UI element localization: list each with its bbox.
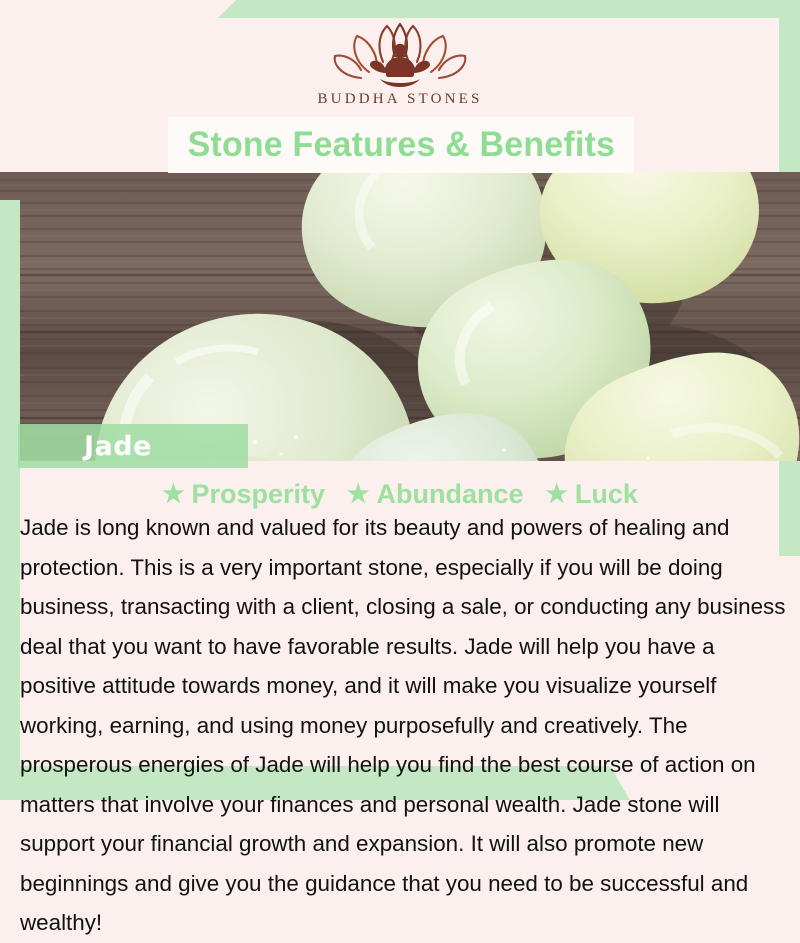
brand-name: BUDDHA STONES xyxy=(317,91,482,108)
brand-logo: BUDDHA STONES xyxy=(0,18,800,118)
stone-photo xyxy=(0,172,800,461)
stone-name-label: Jade xyxy=(84,431,152,462)
lotus-meditation-icon xyxy=(325,18,475,90)
page-title: Stone Features & Benefits xyxy=(187,125,614,165)
benefits-row: ★ Prosperity ★ Abundance ★ Luck xyxy=(0,478,800,510)
accent-bar-top-right xyxy=(218,0,800,18)
stone-photo-illustration xyxy=(0,172,800,461)
star-icon: ★ xyxy=(162,482,184,507)
benefit-label: Abundance xyxy=(376,479,523,510)
benefit-item-prosperity: ★ Prosperity xyxy=(162,479,325,510)
star-icon: ★ xyxy=(545,482,567,507)
benefit-item-luck: ★ Luck xyxy=(545,479,637,510)
star-icon: ★ xyxy=(347,482,369,507)
infographic-page: BUDDHA STONES Stone Features & Benefits xyxy=(0,0,800,800)
benefit-label: Prosperity xyxy=(191,479,325,510)
benefit-item-abundance: ★ Abundance xyxy=(347,479,523,510)
stone-description: Jade is long known and valued for its be… xyxy=(20,508,786,943)
benefit-label: Luck xyxy=(575,479,638,510)
stone-name-bar: Jade xyxy=(18,424,248,468)
title-banner: Stone Features & Benefits xyxy=(168,117,634,173)
